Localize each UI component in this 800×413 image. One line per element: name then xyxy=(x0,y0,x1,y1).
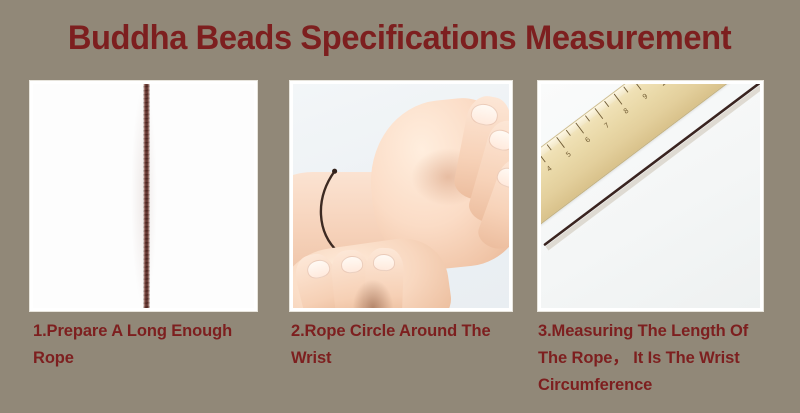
step-2-caption: 2.Rope Circle Around The Wrist xyxy=(291,318,523,372)
fingernail xyxy=(373,254,396,272)
step-3-photo: 23 45 67 89 1011 1213 14 xyxy=(541,84,760,308)
step-1-caption: 1.Prepare A Long Enough Rope xyxy=(33,318,265,372)
step-1-photo xyxy=(33,84,254,308)
rope-texture xyxy=(143,84,150,308)
page-title: Buddha Beads Specifications Measurement xyxy=(0,18,800,58)
step-1-image-panel xyxy=(29,80,258,312)
step-caption-row: 1.Prepare A Long Enough Rope 2.Rope Circ… xyxy=(0,318,800,413)
caption-line: Wrist xyxy=(291,345,523,372)
step-2-image-panel xyxy=(289,80,513,312)
step-image-row: 23 45 67 89 1011 1213 14 xyxy=(0,80,800,312)
step-3-caption: 3.Measuring The Length Of The Rope， It I… xyxy=(538,318,786,399)
finger-shadow xyxy=(353,280,393,308)
step-3-image-panel: 23 45 67 89 1011 1213 14 xyxy=(537,80,764,312)
caption-line: Rope xyxy=(33,345,265,372)
step-2-photo xyxy=(293,84,509,308)
page-title-text: Buddha Beads Specifications Measurement xyxy=(68,18,731,58)
caption-line: 3.Measuring The Length Of xyxy=(538,318,786,345)
caption-line: 1.Prepare A Long Enough xyxy=(33,318,265,345)
rope-strand xyxy=(541,84,760,308)
caption-line: 2.Rope Circle Around The xyxy=(291,318,523,345)
rope-strand xyxy=(143,84,150,308)
caption-line: The Rope， It Is The Wrist xyxy=(538,345,786,372)
caption-line: Circumference xyxy=(538,372,786,399)
